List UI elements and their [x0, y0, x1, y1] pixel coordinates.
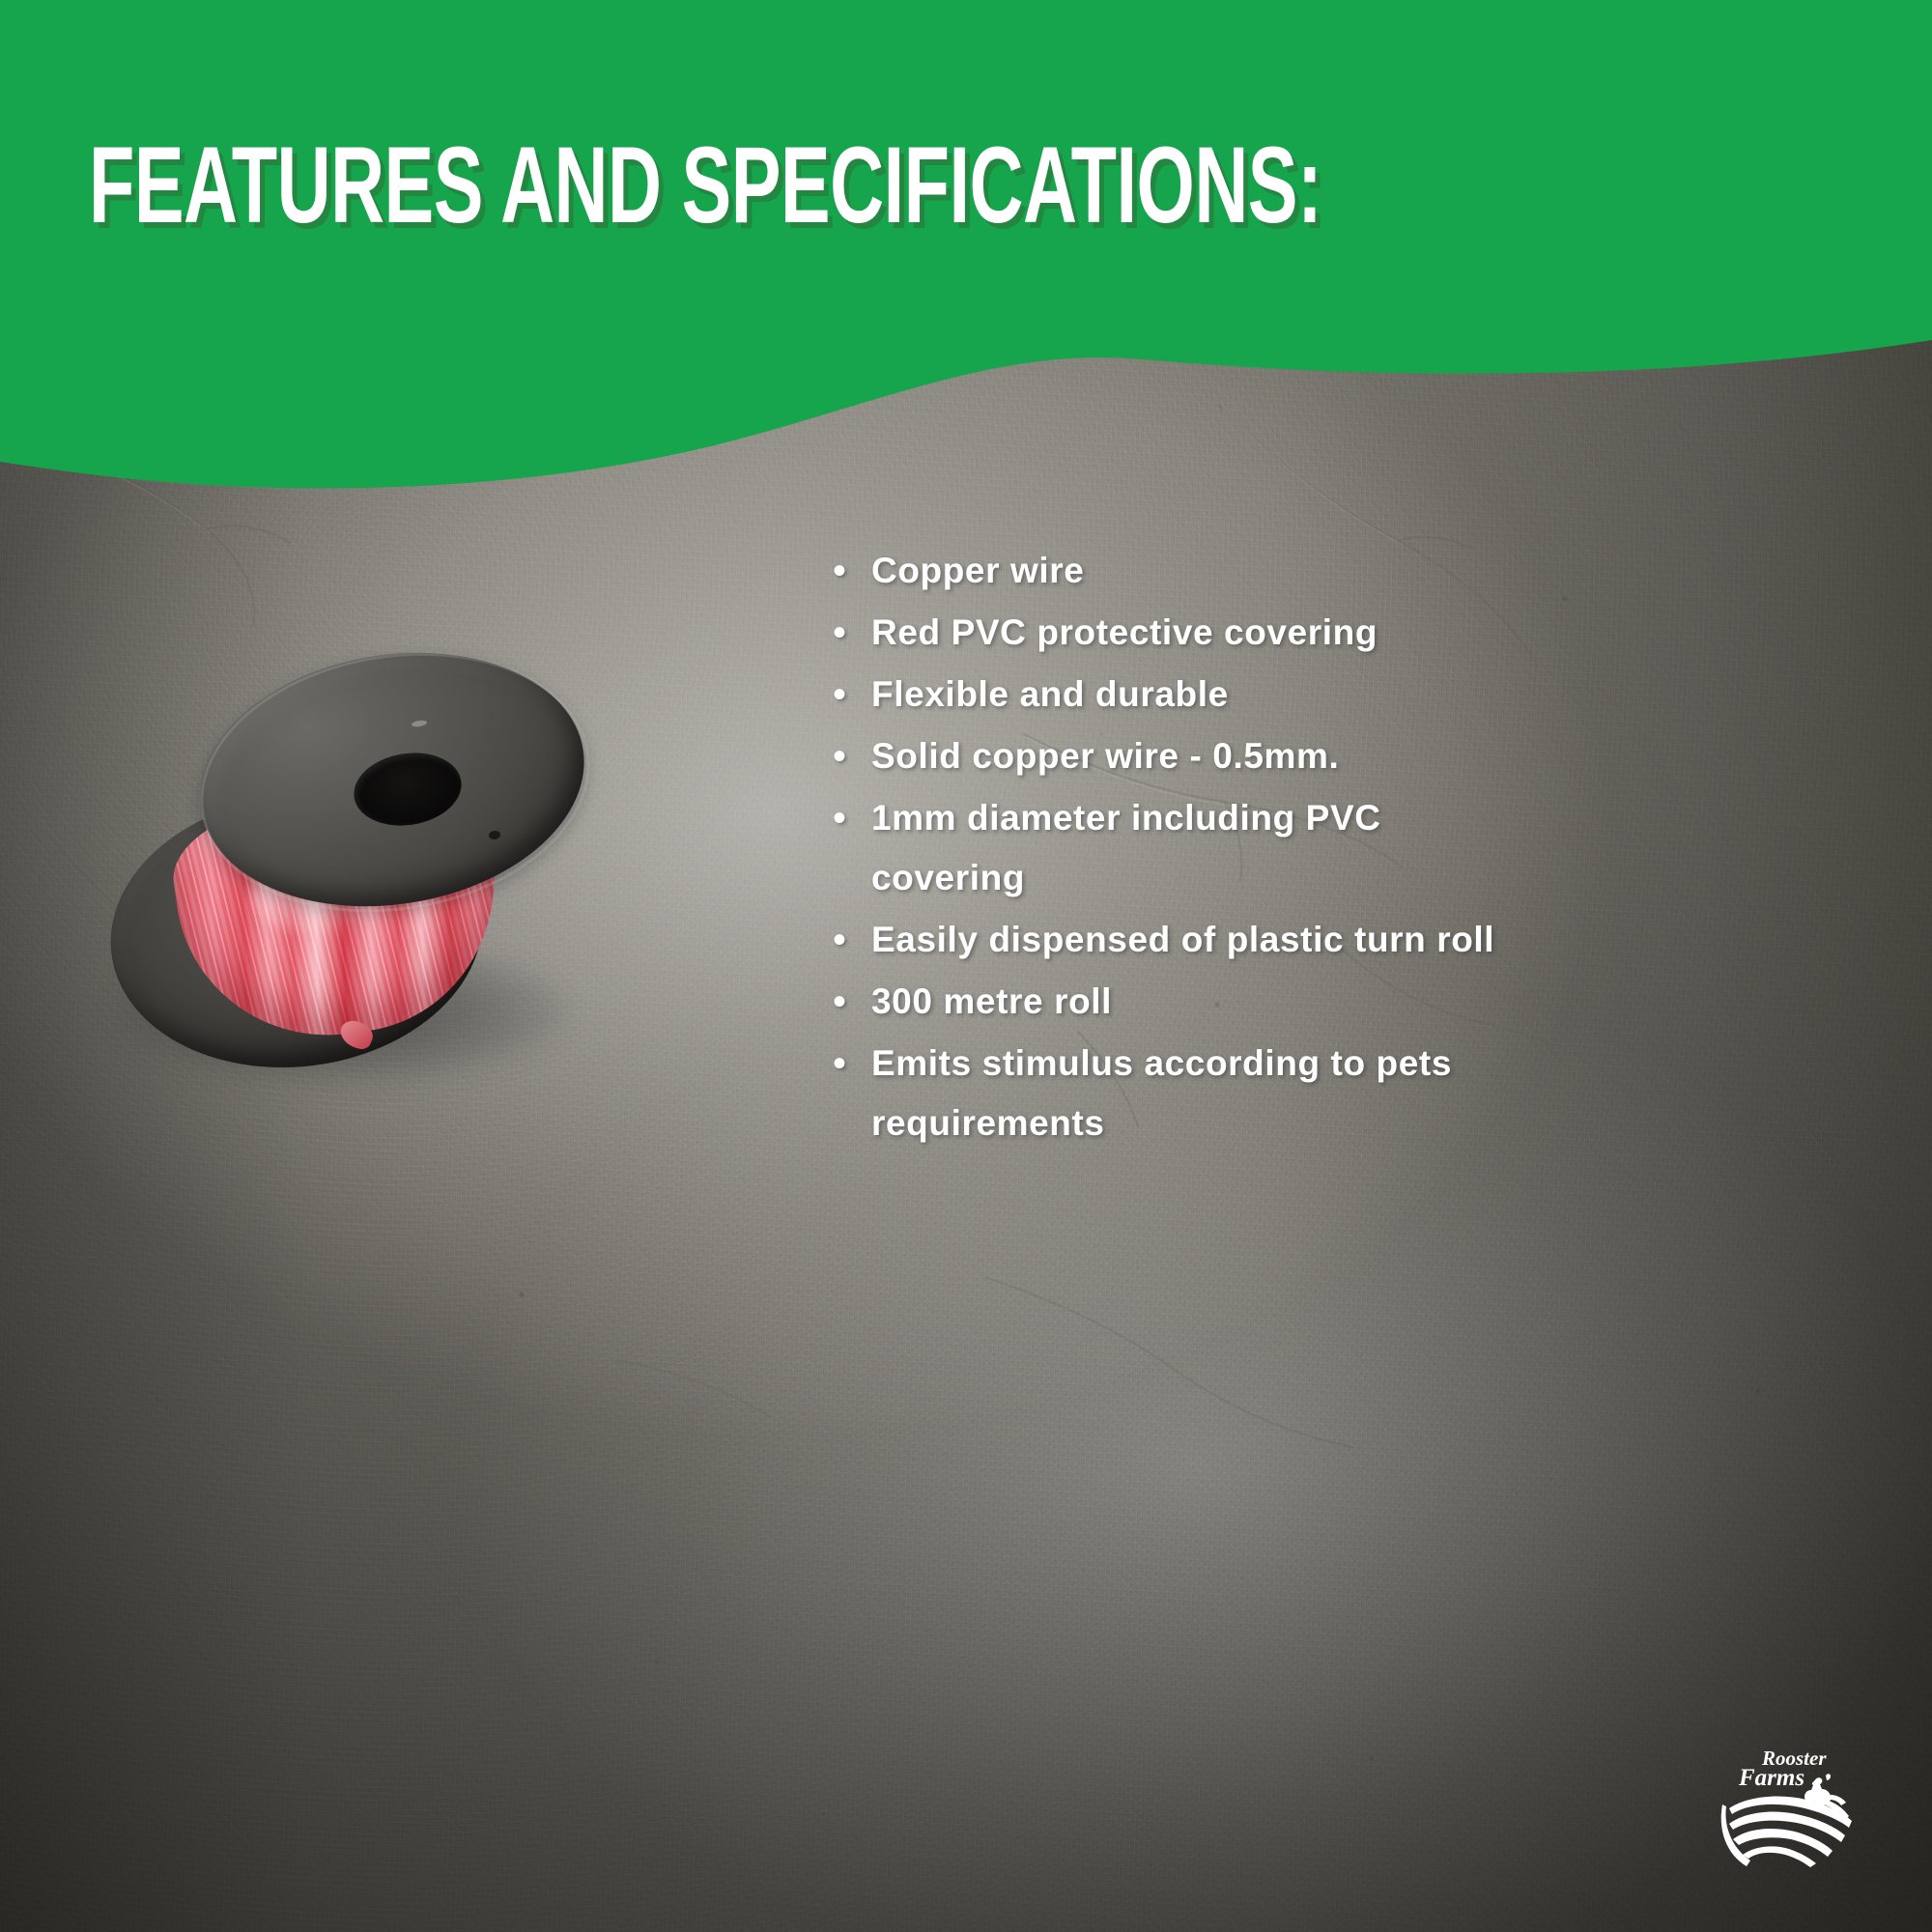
- bullet-icon: •: [833, 972, 871, 1032]
- list-item: • Copper wire: [833, 541, 1499, 601]
- bullet-icon: •: [833, 665, 871, 724]
- bullet-icon: •: [833, 910, 871, 970]
- feature-text: Solid copper wire - 0.5mm.: [871, 726, 1499, 786]
- feature-text: 1mm diameter including PVC covering: [871, 788, 1499, 908]
- list-item: • Emits stimulus according to pets requi…: [833, 1034, 1499, 1153]
- green-banner: [0, 0, 1932, 541]
- bullet-icon: •: [833, 541, 871, 601]
- list-item: • Solid copper wire - 0.5mm.: [833, 726, 1499, 786]
- logo-line-2: Farms: [1738, 1765, 1804, 1791]
- list-item: • Red PVC protective covering: [833, 603, 1499, 663]
- rooster-farms-logo: Rooster Farms: [1714, 1747, 1857, 1872]
- feature-text: Flexible and durable: [871, 665, 1499, 724]
- list-item: • Flexible and durable: [833, 665, 1499, 724]
- bullet-icon: •: [833, 726, 871, 786]
- page-title: FEATURES AND SPECIFICATIONS:: [89, 124, 1321, 248]
- bullet-icon: •: [833, 788, 871, 848]
- feature-text: Red PVC protective covering: [871, 603, 1499, 663]
- product-image-wire-spool: [104, 649, 607, 1103]
- features-list: • Copper wire • Red PVC protective cover…: [833, 541, 1499, 1155]
- list-item: • 300 metre roll: [833, 972, 1499, 1032]
- feature-text: Copper wire: [871, 541, 1499, 601]
- feature-text: Emits stimulus according to pets require…: [871, 1034, 1499, 1153]
- feature-text: Easily dispensed of plastic turn roll: [871, 910, 1499, 970]
- poster-canvas: FEATURES AND SPECIFICATIONS: • Copper wi…: [0, 0, 1932, 1932]
- list-item: • Easily dispensed of plastic turn roll: [833, 910, 1499, 970]
- bullet-icon: •: [833, 1034, 871, 1094]
- bullet-icon: •: [833, 603, 871, 663]
- feature-text: 300 metre roll: [871, 972, 1499, 1032]
- list-item: • 1mm diameter including PVC covering: [833, 788, 1499, 908]
